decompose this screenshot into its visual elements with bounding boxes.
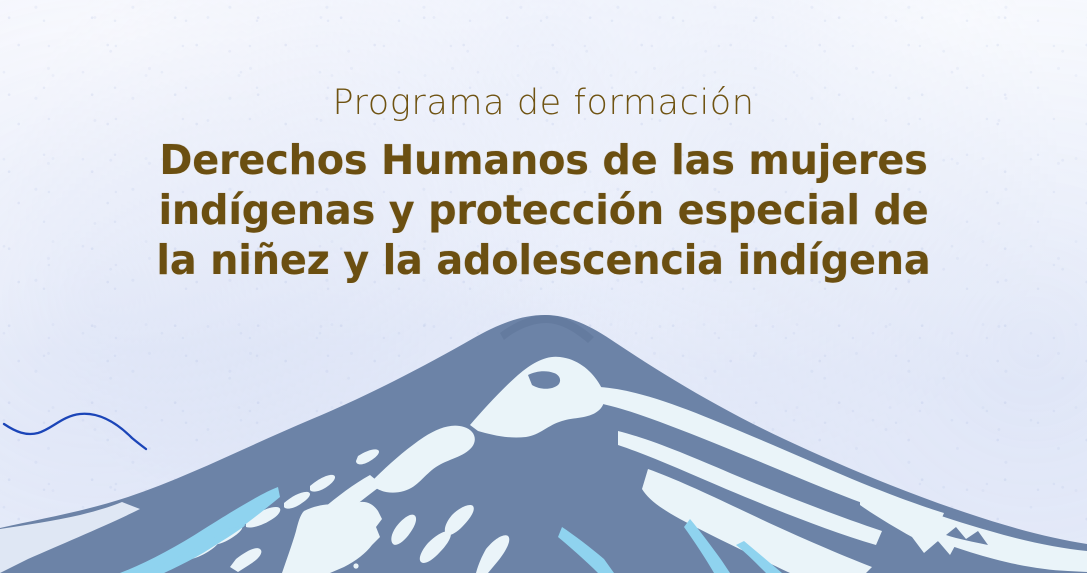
title-line-3: la niñez y la adolescencia indígena bbox=[16, 235, 1070, 285]
poster-text-block: Programa de formación Derechos Humanos d… bbox=[0, 0, 1087, 285]
title-line-2: indígenas y protección especial de bbox=[16, 185, 1070, 235]
page-title: Derechos Humanos de las mujeres indígena… bbox=[16, 135, 1070, 285]
program-kicker: Programa de formación bbox=[0, 86, 1087, 121]
snow-dot-3 bbox=[346, 557, 350, 561]
snow-capped-mountain-illustration bbox=[0, 313, 1087, 573]
title-line-1: Derechos Humanos de las mujeres bbox=[16, 135, 1070, 185]
poster-canvas: Programa de formación Derechos Humanos d… bbox=[0, 0, 1087, 573]
snow-dot-4 bbox=[353, 563, 358, 568]
snow-dot-1 bbox=[323, 554, 329, 560]
snow-dot-2 bbox=[334, 561, 339, 566]
